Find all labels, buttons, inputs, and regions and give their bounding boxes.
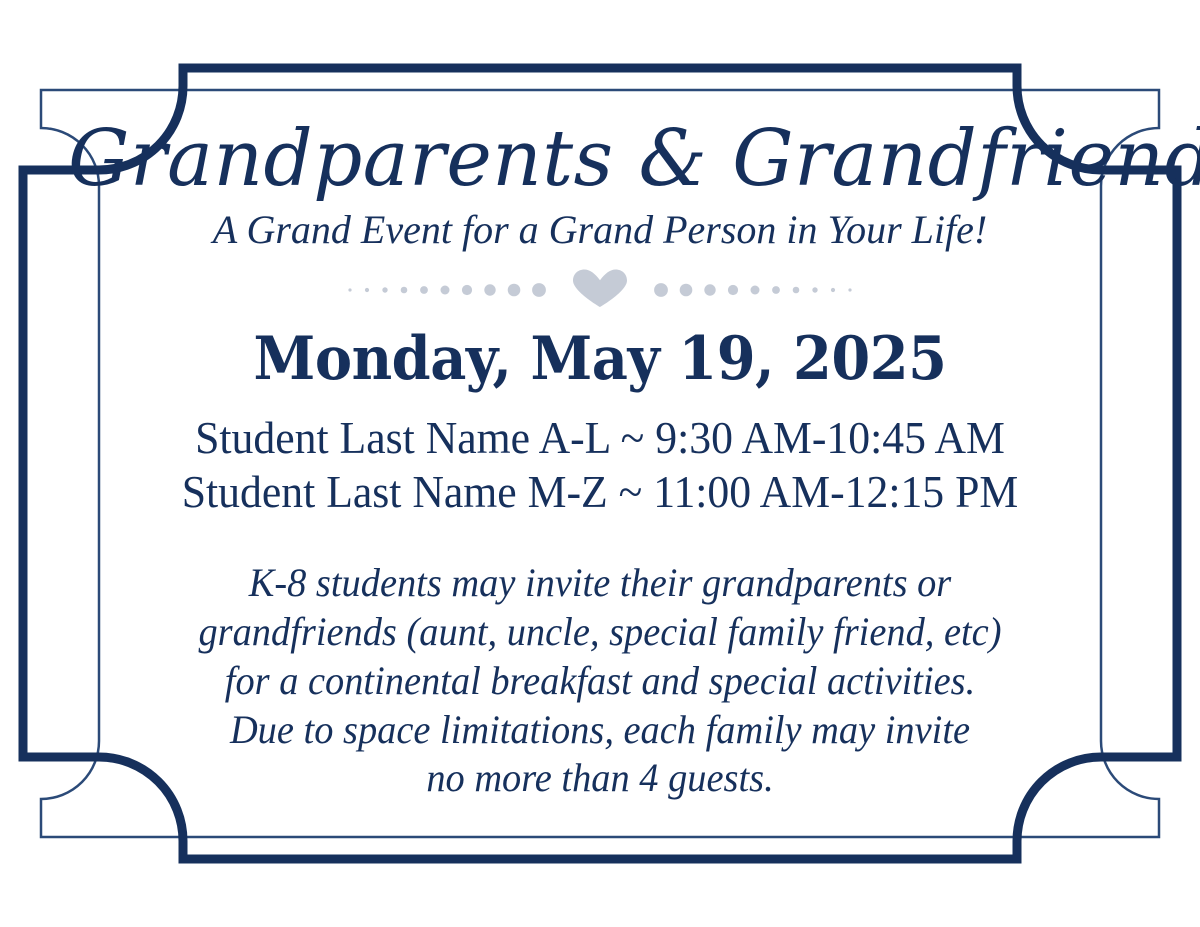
divider-dots-left [348,283,546,297]
flyer-content: Grandparents & Grandfriends Day A Grand … [60,118,1140,803]
dotted-heart-divider [340,269,860,311]
session-times: Student Last Name A-L ~ 9:30 AM-10:45 AM… [60,411,1140,520]
detail-line-2: grandfriends (aunt, uncle, special famil… [82,608,1119,657]
divider-dots-right [654,283,852,297]
session-time-m-z: Student Last Name M-Z ~ 11:00 AM-12:15 P… [87,465,1113,519]
detail-line-1: K-8 students may invite their grandparen… [82,559,1119,608]
event-details: K-8 students may invite their grandparen… [60,559,1140,803]
detail-line-4: Due to space limitations, each family ma… [82,706,1119,755]
page-title: Grandparents & Grandfriends Day [68,118,1132,201]
page-subtitle: A Grand Event for a Grand Person in Your… [60,207,1140,253]
event-date: Monday, May 19, 2025 [98,328,1102,391]
detail-line-3: for a continental breakfast and special … [82,657,1119,706]
grandparents-day-flyer: Grandparents & Grandfriends Day A Grand … [0,0,1200,927]
heart-icon [573,269,627,307]
detail-line-5: no more than 4 guests. [82,754,1119,803]
session-time-a-l: Student Last Name A-L ~ 9:30 AM-10:45 AM [87,411,1113,465]
